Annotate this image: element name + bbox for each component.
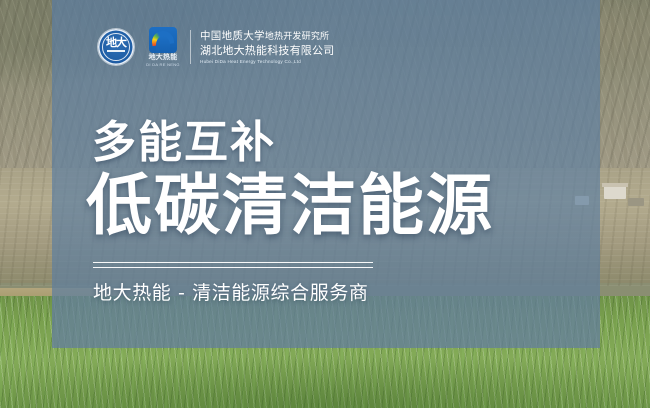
logo-wordmark: 地大热能 — [143, 54, 183, 62]
banner-stage: 地大 地大热能 DI DA RE NENG 中国地质大学地热开发研究所 湖北地大… — [0, 0, 650, 408]
building — [604, 186, 626, 199]
logo-pinyin: DI DA RE NENG — [143, 62, 183, 67]
university-seal-icon: 地大 — [98, 29, 134, 65]
company-logo: 地大热能 DI DA RE NENG — [143, 27, 183, 67]
department-name: 地热开发研究所 — [265, 32, 329, 42]
brand-lockup: 地大 地大热能 DI DA RE NENG 中国地质大学地热开发研究所 湖北地大… — [98, 26, 334, 68]
headline-small: 多能互补 — [92, 119, 276, 167]
vertical-divider — [190, 30, 191, 64]
double-rule-divider — [93, 262, 373, 268]
brand-line-1: 中国地质大学地热开发研究所 — [200, 30, 334, 44]
tagline: 地大热能 - 清洁能源综合服务商 — [93, 280, 369, 306]
institution-name: 中国地质大学 — [200, 30, 265, 42]
brand-line-3-english: Hubei DiDa Heat Energy Technology Co.,Lt… — [200, 58, 334, 65]
brand-line-2: 湖北地大热能科技有限公司 — [200, 44, 334, 58]
rainbow-arc-logo-icon — [149, 27, 177, 53]
building-roof — [602, 183, 628, 187]
brand-text-block: 中国地质大学地热开发研究所 湖北地大热能科技有限公司 Hubei DiDa He… — [200, 30, 334, 65]
building — [628, 198, 644, 206]
seal-glyph: 地大 — [98, 38, 134, 49]
seal-underline — [107, 50, 125, 52]
rainbow-arc-inner — [156, 36, 170, 53]
headline-large: 低碳清洁能源 — [86, 169, 494, 243]
